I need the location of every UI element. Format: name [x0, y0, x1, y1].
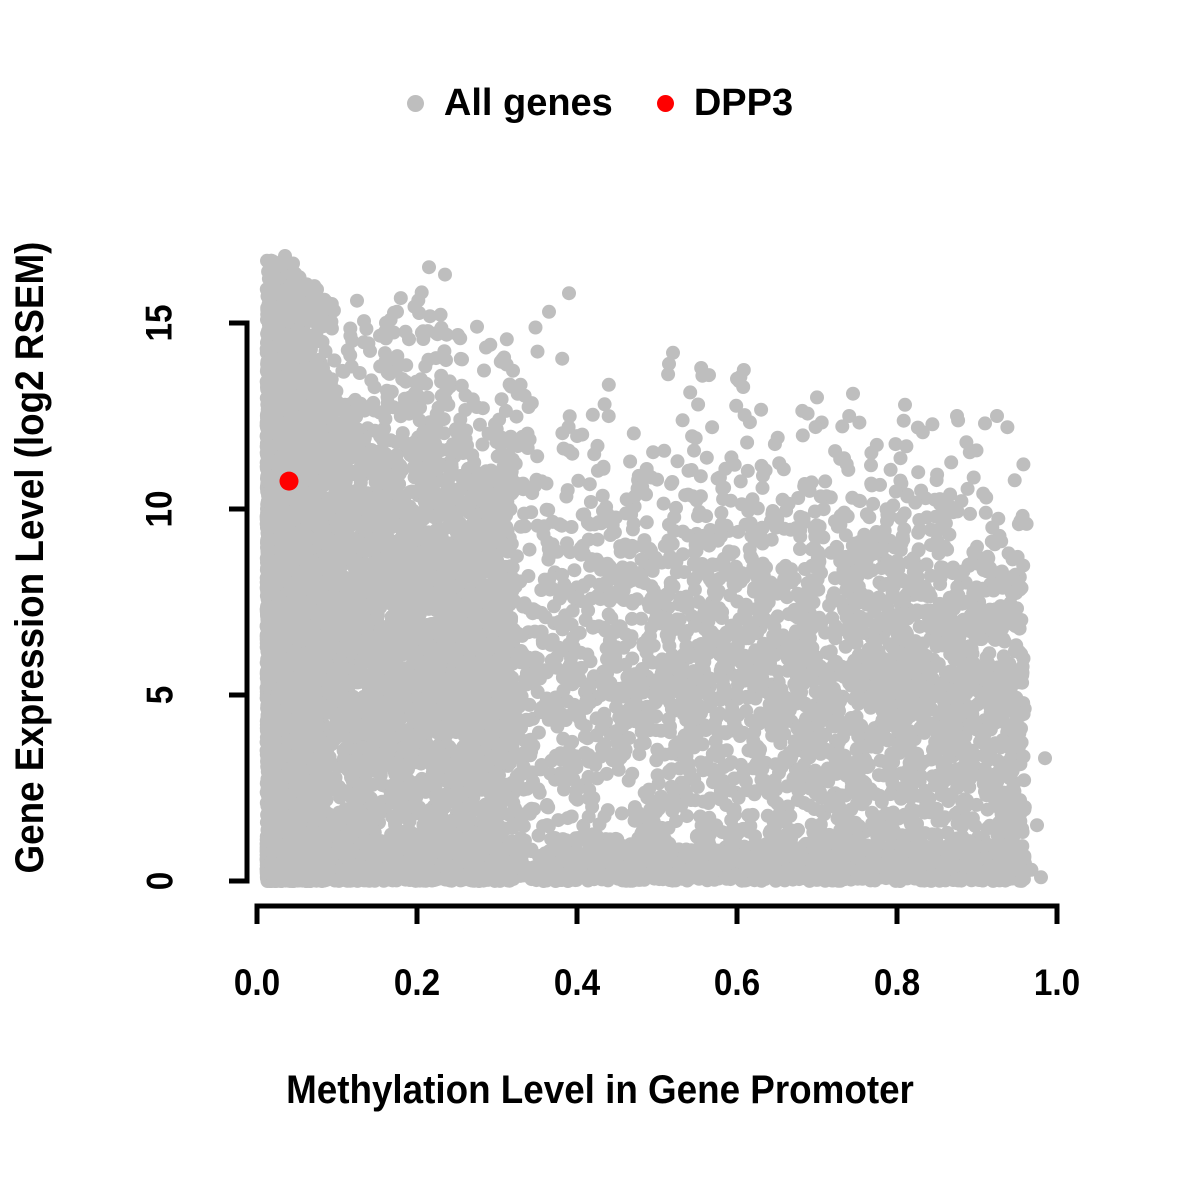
- plot-canvas: [0, 0, 1200, 1200]
- y-axis-title: Gene Expression Level (log2 RSEM): [8, 0, 68, 1158]
- highlight-point-layer: [280, 472, 299, 491]
- y-tick-label: 10: [136, 485, 184, 533]
- y-tick-label: 5: [136, 671, 184, 719]
- x-tick-label: 1.0: [1034, 962, 1080, 1004]
- x-tick-label: 0.4: [554, 962, 600, 1004]
- dpp3-highlight-point: [280, 472, 299, 491]
- x-tick-label: 0.8: [874, 962, 920, 1004]
- x-tick-label: 0.0: [234, 962, 280, 1004]
- scatter-plot-figure: All genes DPP3 0.00.20.40.60.81.0 051015…: [0, 0, 1200, 1200]
- y-tick-label: 15: [136, 299, 184, 347]
- y-axis-title-text: Gene Expression Level (log2 RSEM): [8, 242, 53, 874]
- y-tick-label: 0: [136, 857, 184, 905]
- x-tick-label: 0.2: [394, 962, 440, 1004]
- x-tick-label: 0.6: [714, 962, 760, 1004]
- x-axis-title: Methylation Level in Gene Promoter: [48, 1068, 1152, 1113]
